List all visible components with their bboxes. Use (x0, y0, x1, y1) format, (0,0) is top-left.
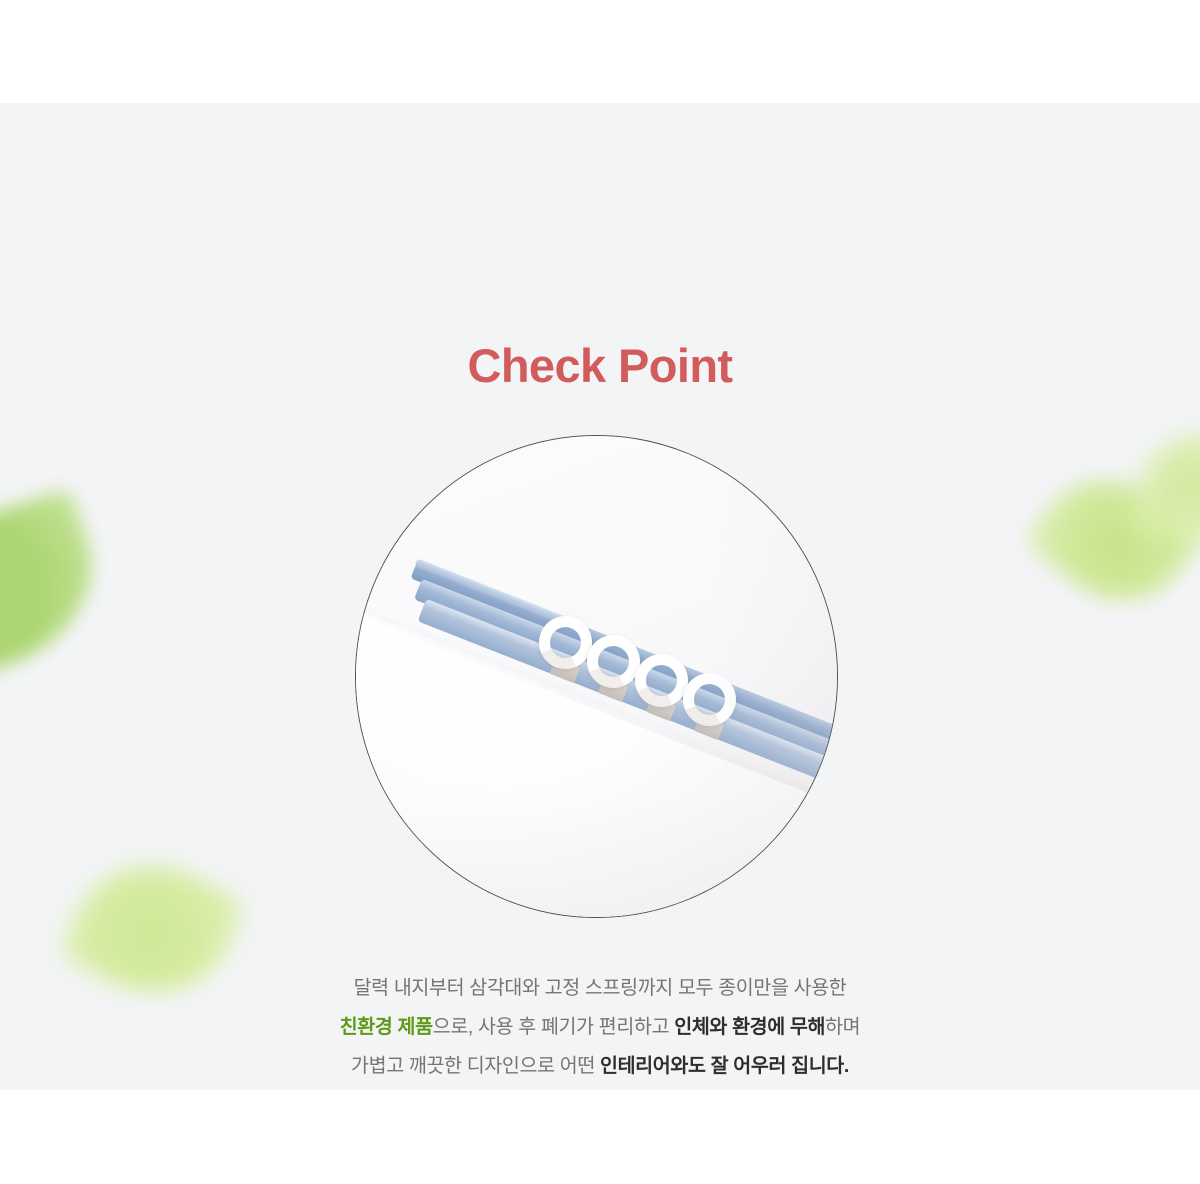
leaf-icon (1132, 423, 1200, 552)
product-photo-circle (355, 435, 838, 918)
description-line-3: 가볍고 깨끗한 디자인으로 어떤 인테리어와도 잘 어우러 집니다. (0, 1047, 1200, 1086)
product-photo (356, 436, 837, 917)
product-detail-page: Check Point (0, 0, 1200, 1184)
product-description: 달력 내지부터 삼각대와 고정 스프링까지 모두 종이만을 사용한 친환경 제품… (0, 969, 1200, 1086)
description-line-1: 달력 내지부터 삼각대와 고정 스프링까지 모두 종이만을 사용한 (0, 969, 1200, 1008)
leaf-icon (1022, 450, 1200, 630)
content-panel: Check Point (0, 103, 1200, 1090)
page-title: Check Point (0, 339, 1200, 393)
safety-highlight: 인체와 환경에 무해 (674, 1016, 825, 1038)
leaf-icon (0, 487, 117, 688)
interior-highlight: 인테리어와도 잘 어우러 집니다. (600, 1055, 849, 1077)
eco-highlight: 친환경 제품 (340, 1016, 433, 1038)
description-line-2: 친환경 제품으로, 사용 후 폐기가 편리하고 인체와 환경에 무해하며 (0, 1008, 1200, 1047)
